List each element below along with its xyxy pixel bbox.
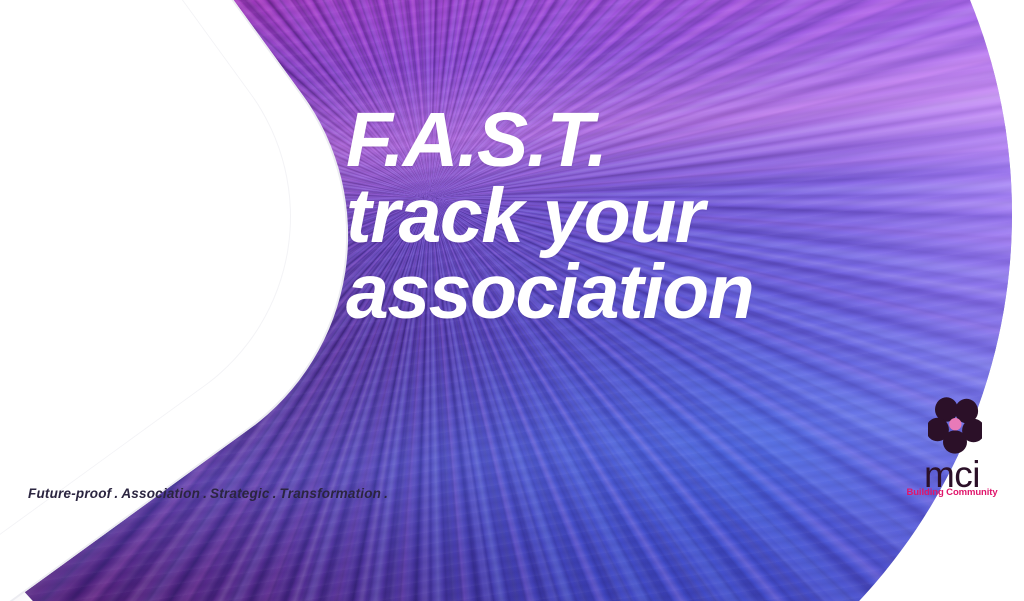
tagline-word-3: Strategic: [210, 486, 270, 501]
headline-line-2: track your: [346, 179, 986, 255]
tagline-word-2: Association: [121, 486, 200, 501]
tagline-separator-2: .: [203, 486, 207, 501]
mci-strapline: Building Community: [900, 488, 1004, 498]
page-title: F.A.S.T. track your association: [346, 103, 986, 331]
slide-canvas: F.A.S.T. track your association Future-p…: [0, 0, 1024, 601]
tagline-word-4: Transformation: [280, 486, 382, 501]
tagline: Future-proof.Association.Strategic.Trans…: [28, 486, 391, 501]
headline-line-3: association: [346, 255, 986, 331]
tagline-separator-4: .: [384, 486, 388, 501]
tagline-separator-3: .: [273, 486, 277, 501]
tagline-word-1: Future-proof: [28, 486, 111, 501]
mci-logo: mci Building Community: [898, 396, 1004, 504]
headline-line-1: F.A.S.T.: [346, 103, 986, 179]
mci-flower-icon: [928, 396, 982, 454]
tagline-separator-1: .: [114, 486, 118, 501]
